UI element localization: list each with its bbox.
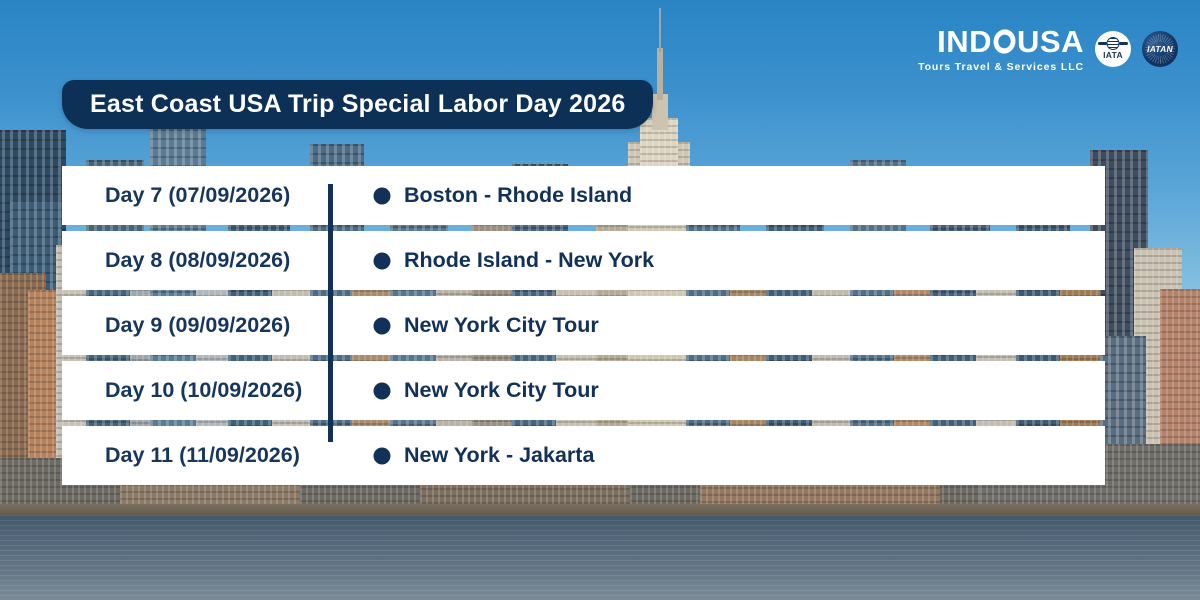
logo-o-icon bbox=[990, 25, 1020, 58]
logo-wordmark: IND USA bbox=[918, 26, 1084, 57]
itinerary-row: Day 10 (10/09/2026) New York City Tour bbox=[62, 361, 1105, 420]
itinerary-row: Day 9 (09/09/2026) New York City Tour bbox=[62, 296, 1105, 355]
iatan-badge: IATAN bbox=[1142, 31, 1178, 67]
timeline-dot-icon bbox=[374, 187, 391, 204]
itinerary-day-label: Day 7 (07/09/2026) bbox=[62, 183, 347, 208]
itinerary-day-label: Day 11 (11/09/2026) bbox=[62, 443, 347, 468]
title-banner: East Coast USA Trip Special Labor Day 20… bbox=[62, 80, 653, 129]
logo-text-block: IND USA Tours Travel & Services LLC bbox=[918, 26, 1084, 73]
itinerary-row: Day 8 (08/09/2026) Rhode Island - New Yo… bbox=[62, 231, 1105, 290]
logo-tagline: Tours Travel & Services LLC bbox=[918, 62, 1084, 73]
itinerary-row: Day 7 (07/09/2026) Boston - Rhode Island bbox=[62, 166, 1105, 225]
wing-left-icon bbox=[1098, 42, 1107, 45]
itinerary-day-label: Day 10 (10/09/2026) bbox=[62, 378, 347, 403]
iata-badge-label: IATA bbox=[1095, 50, 1131, 60]
logo-wordmark-part2: USA bbox=[1017, 26, 1084, 57]
itinerary-list: Day 7 (07/09/2026) Boston - Rhode Island… bbox=[62, 166, 1105, 485]
timeline-dot-icon bbox=[374, 252, 391, 269]
itinerary-destination: Rhode Island - New York bbox=[347, 248, 654, 273]
itinerary-day-label: Day 8 (08/09/2026) bbox=[62, 248, 347, 273]
iata-badge: IATA bbox=[1095, 31, 1131, 67]
page-title: East Coast USA Trip Special Labor Day 20… bbox=[90, 90, 625, 119]
brand-logo: IND USA Tours Travel & Services LLC IATA… bbox=[918, 26, 1178, 73]
timeline-dot-icon bbox=[374, 447, 391, 464]
iatan-badge-label: IATAN bbox=[1147, 44, 1173, 54]
travel-itinerary-poster: IND USA Tours Travel & Services LLC IATA… bbox=[0, 0, 1200, 600]
harbor-water bbox=[0, 515, 1200, 600]
itinerary-day-label: Day 9 (09/09/2026) bbox=[62, 313, 347, 338]
timeline-spine bbox=[328, 184, 333, 442]
timeline-dot-icon bbox=[374, 317, 391, 334]
winged-globe-icon bbox=[1107, 37, 1120, 50]
logo-wordmark-part1: IND bbox=[937, 26, 992, 57]
itinerary-row: Day 11 (11/09/2026) New York - Jakarta bbox=[62, 426, 1105, 485]
timeline-dot-icon bbox=[374, 382, 391, 399]
wing-right-icon bbox=[1119, 42, 1128, 45]
